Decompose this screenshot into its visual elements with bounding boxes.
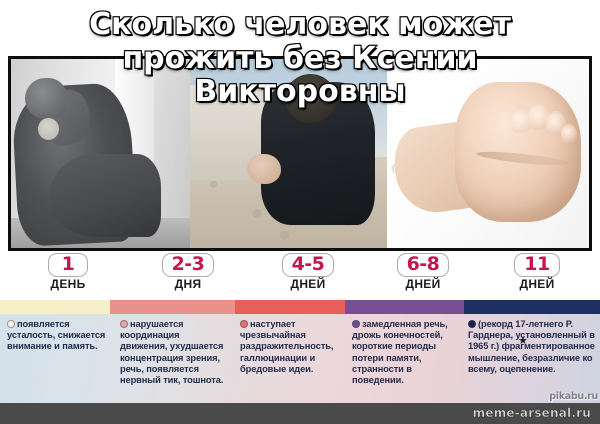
stage-description-3: наступает чрезвычайная раздражительность… [233,319,345,403]
bullet-dot-icon [120,320,128,328]
stage-badge-2: 2-3 [162,253,215,277]
stage-description-4: замедленная речь, дрожь конечностей, кор… [345,319,461,403]
stage-badge-4: 6-8 [397,253,450,277]
stage-unit-2: ДНЯ [133,278,243,291]
stage-unit-1: ДЕНЬ [13,278,123,291]
photo3-knuckle [561,124,577,146]
bullet-dot-icon [7,320,15,328]
color-segment-2 [110,300,235,314]
timeline-color-bar [0,300,600,314]
photo2-fist [247,154,280,184]
stage-description-text-3: наступает чрезвычайная раздражительность… [240,319,340,375]
meme-image: dreamstime Сколько человек может прожить… [0,0,600,424]
bullet-dot-icon [352,320,360,328]
photo-fist: dreamstime [387,59,589,248]
stage-descriptions: появляется усталость, снижается внимание… [0,314,600,403]
photo-band: dreamstime [8,56,592,251]
stage-description-text-5: (рекорд 17-летнего Р. Гарднера, установл… [468,319,595,375]
photo-man-on-beach [190,59,387,248]
stage-description-text-1: появляется усталость, снижается внимание… [7,319,108,353]
stage-text-2: нарушается координация движения, ухудшае… [120,319,223,385]
timeline: 1 ДЕНЬ 2-3 ДНЯ 4-5 ДНЕЙ 6-8 ДНЕЙ 11 ДНЕЙ [0,251,600,314]
stage-description-5: (рекорд 17-летнего Р. Гарднера, установл… [461,319,600,403]
stage-description-2: нарушается координация движения, ухудшае… [113,319,233,403]
stage-marker-1: 1 ДЕНЬ [13,253,123,291]
bullet-dot-icon [240,320,248,328]
stage-description-1: появляется усталость, снижается внимание… [0,319,113,403]
bottom-bar: meme-arsenal.ru [0,403,600,424]
stage-text-1: появляется усталость, снижается внимание… [7,319,105,351]
stage-text-5: (рекорд 17-летнего Р. Гарднера, установл… [468,319,595,374]
stage-description-text-2: нарушается координация движения, ухудшае… [120,319,228,386]
top-white-strip [0,0,600,56]
meme-arsenal-watermark: meme-arsenal.ru [473,406,591,420]
stage-marker-4: 6-8 ДНЕЙ [368,253,478,291]
color-segment-4 [345,300,464,314]
color-segment-3 [235,300,345,314]
stage-description-text-4: замедленная речь, дрожь конечностей, кор… [352,319,456,386]
star-icon: ★ [518,336,528,347]
stage-unit-3: ДНЕЙ [253,278,363,291]
stage-text-4: замедленная речь, дрожь конечностей, кор… [352,319,448,385]
stage-badge-3: 4-5 [282,253,335,277]
photo1-head [25,78,66,120]
photo3-fist-shape [455,82,580,222]
stage-badge-5: 11 [514,253,559,277]
stage-unit-5: ДНЕЙ [482,278,592,291]
color-segment-5 [464,300,600,314]
photo2-head [285,74,336,123]
photo-depressed-man [11,59,190,248]
stage-marker-2: 2-3 ДНЯ [133,253,243,291]
stage-marker-3: 4-5 ДНЕЙ [253,253,363,291]
photo1-legs [50,154,161,237]
stage-badge-1: 1 [48,253,88,277]
stage-marker-5: 11 ДНЕЙ [482,253,592,291]
color-segment-1 [0,300,110,314]
bullet-dot-icon [468,320,476,328]
timeline-badges: 1 ДЕНЬ 2-3 ДНЯ 4-5 ДНЕЙ 6-8 ДНЕЙ 11 ДНЕЙ [0,251,600,300]
stage-text-3: наступает чрезвычайная раздражительность… [240,319,333,374]
stage-unit-4: ДНЕЙ [368,278,478,291]
pikabu-watermark: pikabu.ru [549,391,598,402]
